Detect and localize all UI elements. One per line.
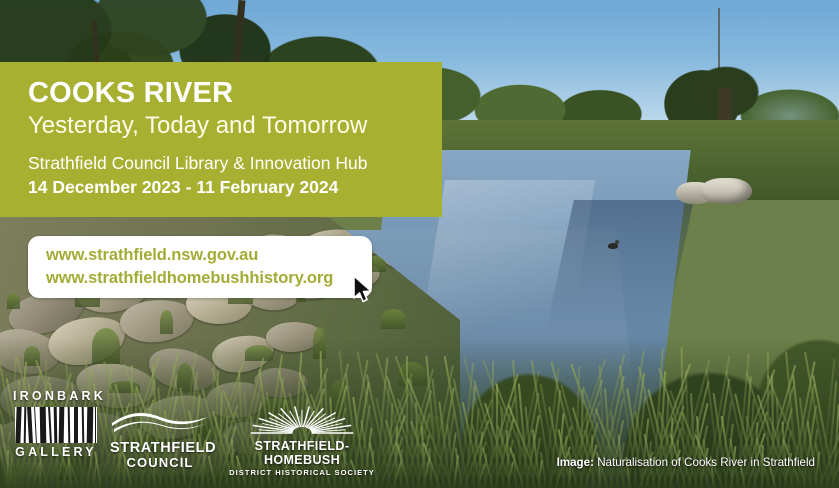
caption-label: Image: <box>557 456 594 469</box>
logo-ironbark-gallery[interactable]: IRONBARK GALLERY <box>13 390 99 460</box>
caption-text: Naturalisation of Cooks River in Strathf… <box>597 456 815 469</box>
link-strathfield-council[interactable]: www.strathfield.nsw.gov.au <box>46 244 372 267</box>
logo-strathfield-council[interactable]: STRATHFIELD COUNCIL <box>110 412 210 471</box>
ironbark-wordmark-bottom: GALLERY <box>13 446 99 460</box>
venue-text: Strathfield Council Library & Innovation… <box>28 153 424 174</box>
page-subtitle: Yesterday, Today and Tomorrow <box>28 112 424 140</box>
page-title: COOKS RIVER <box>28 78 424 108</box>
council-subname: COUNCIL <box>110 456 210 471</box>
logo-row: IRONBARK GALLERY STRATHFIELD COUNCIL STR… <box>0 380 839 488</box>
wave-swoosh-icon <box>110 412 210 434</box>
council-name: STRATHFIELD <box>110 441 210 456</box>
website-links-box: www.strathfield.nsw.gov.au www.strathfie… <box>28 236 372 298</box>
ironbark-wordmark-top: IRONBARK <box>13 390 99 404</box>
link-strathfield-homebush-history[interactable]: www.strathfieldhomebushhistory.org <box>46 267 372 290</box>
exhibition-dates: 14 December 2023 - 11 February 2024 <box>28 177 424 198</box>
society-name: STRATHFIELD-HOMEBUSH <box>222 440 382 468</box>
title-banner: COOKS RIVER Yesterday, Today and Tomorro… <box>0 62 442 217</box>
logo-historical-society[interactable]: STRATHFIELD-HOMEBUSH DISTRICT HISTORICAL… <box>222 404 382 477</box>
exhibition-poster: COOKS RIVER Yesterday, Today and Tomorro… <box>0 0 839 488</box>
sunburst-icon <box>222 404 382 434</box>
concrete-culvert <box>700 178 752 204</box>
bark-texture-icon <box>15 407 97 443</box>
image-caption: Image: Naturalisation of Cooks River in … <box>557 456 815 470</box>
society-subname: DISTRICT HISTORICAL SOCIETY <box>222 468 382 478</box>
